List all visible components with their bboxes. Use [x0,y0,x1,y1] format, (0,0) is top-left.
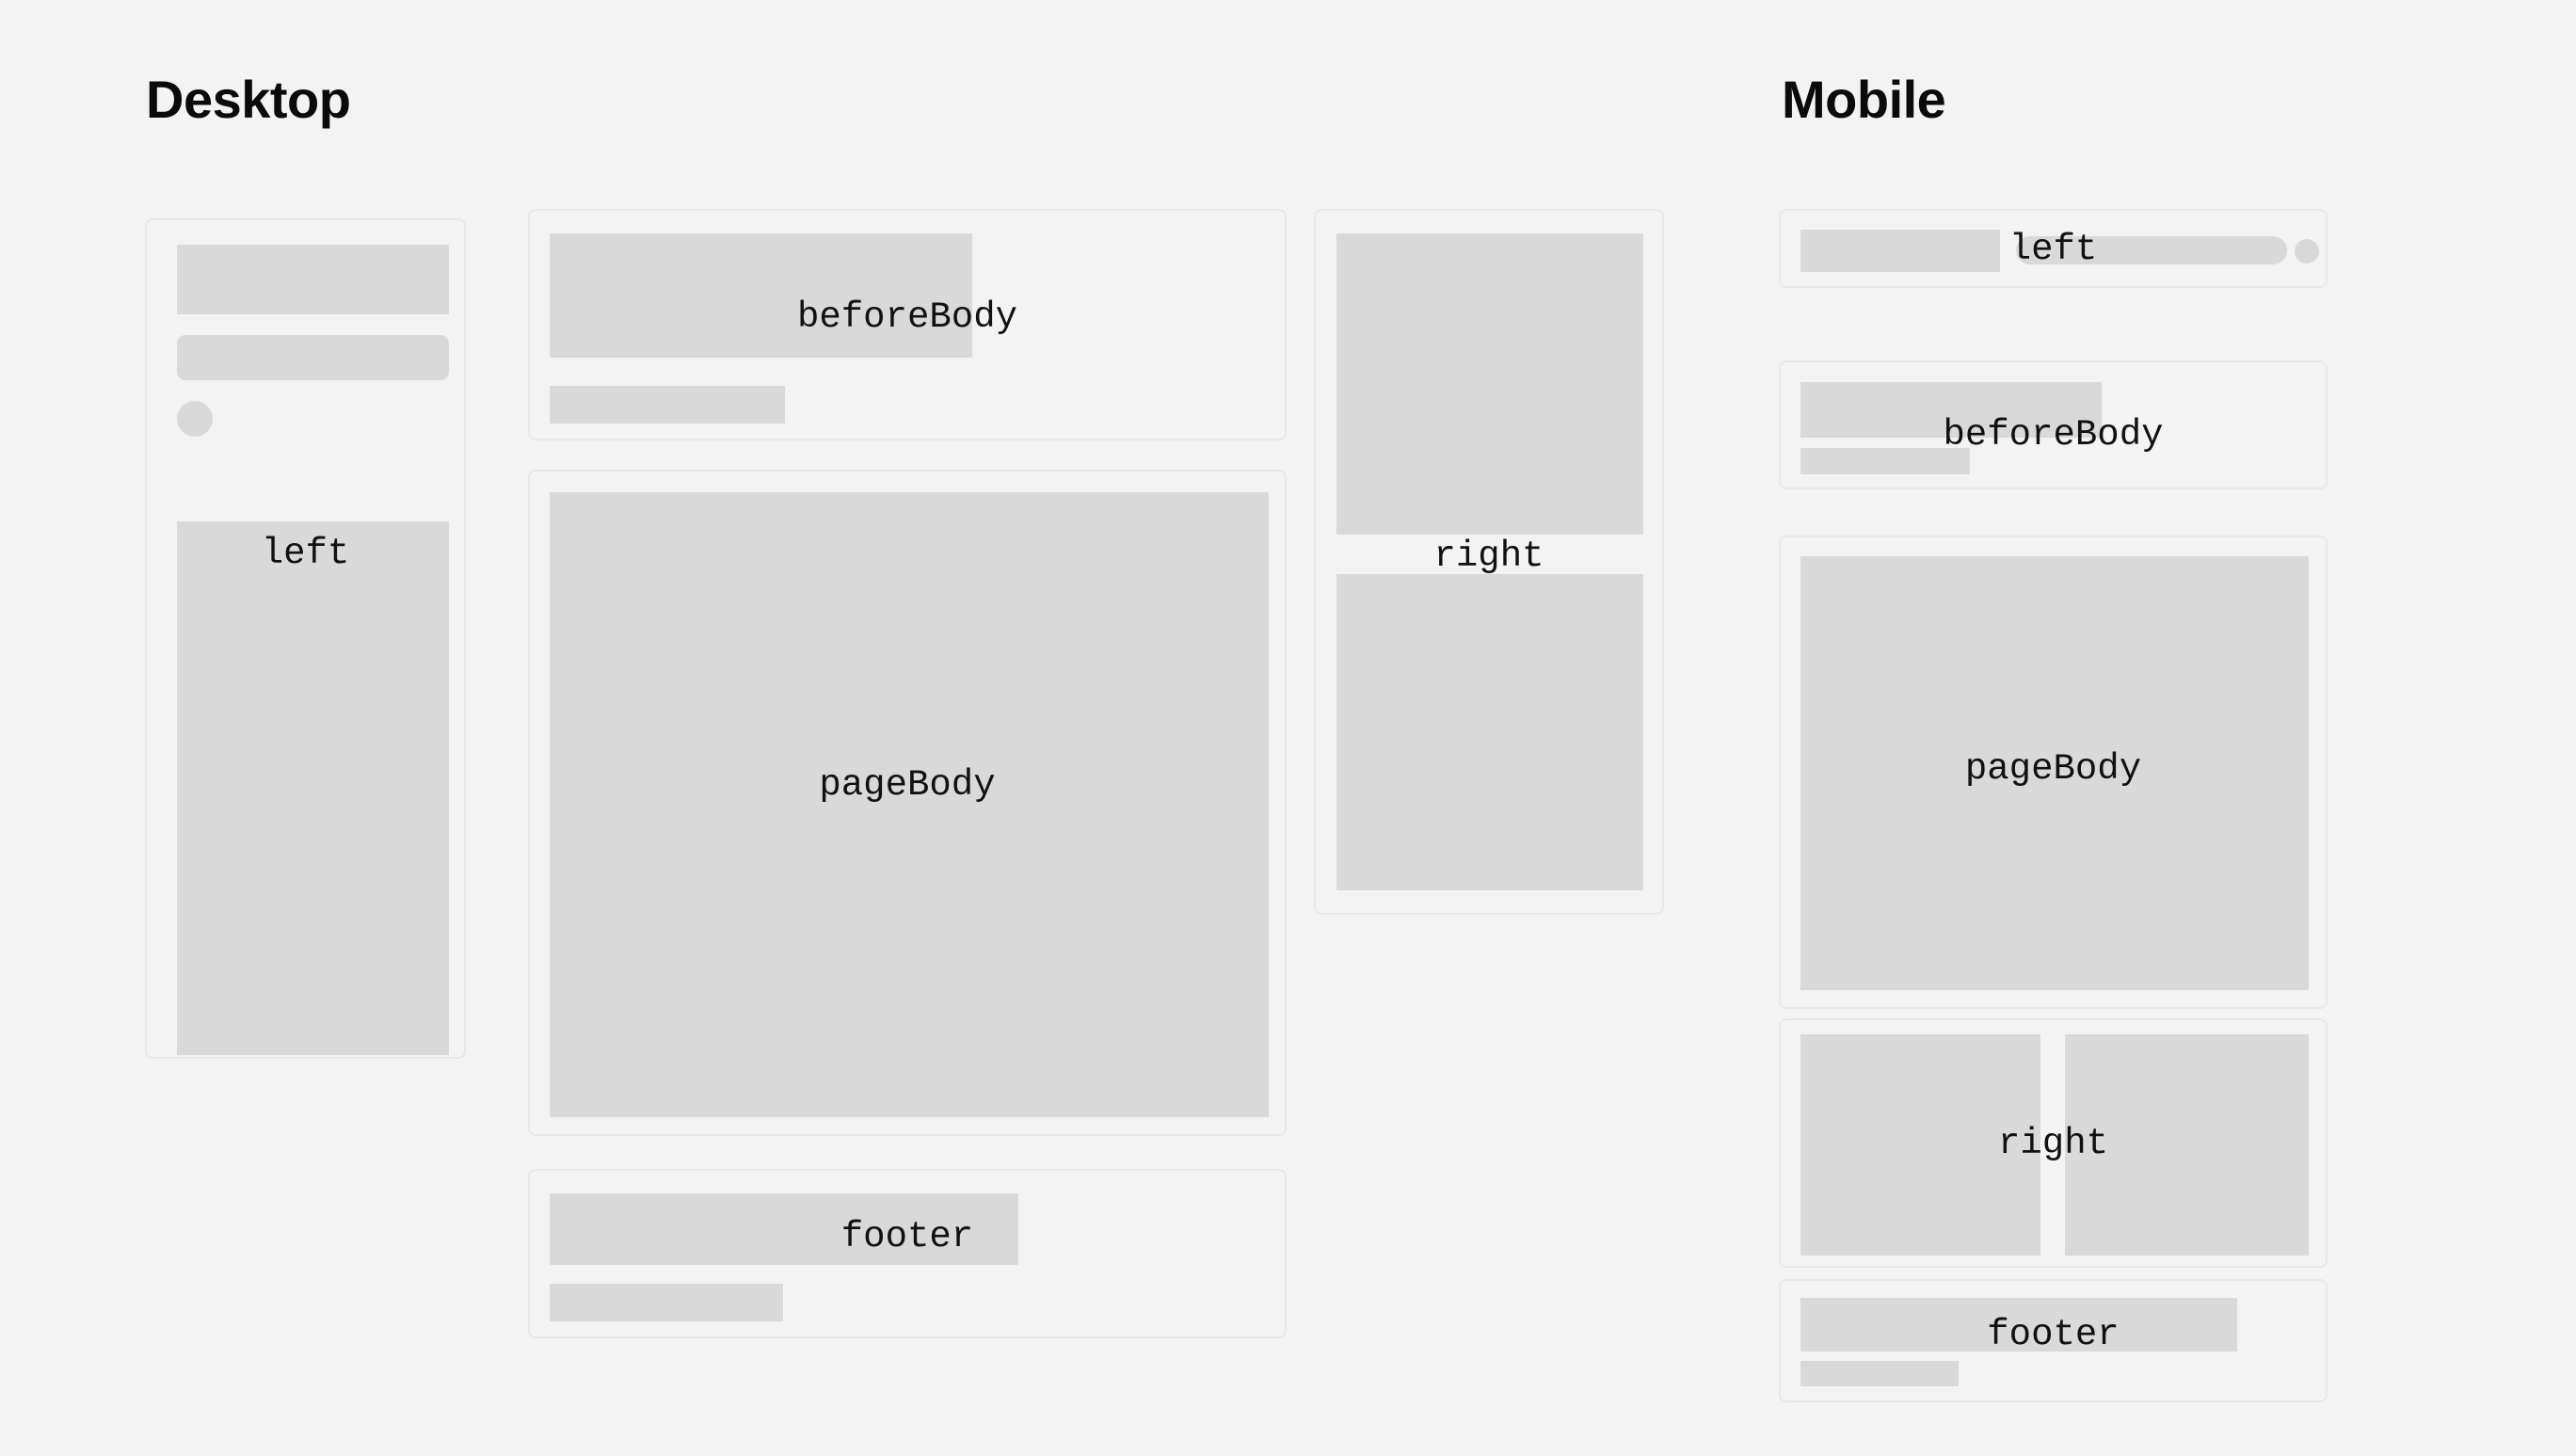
placeholder-block-tall [177,521,449,1055]
desktop-left-slot-panel[interactable] [145,218,466,1059]
mobile-right-slot-panel[interactable] [1779,1018,2328,1268]
placeholder-bar [550,1284,783,1321]
placeholder-avatar-circle [2295,239,2319,264]
mobile-left-slot-panel[interactable] [1779,209,2328,288]
desktop-footer-slot-panel[interactable] [528,1169,1287,1338]
placeholder-pill [2016,236,2287,264]
mobile-beforebody-slot-panel[interactable] [1779,360,2328,489]
mobile-footer-slot-panel[interactable] [1779,1279,2328,1402]
placeholder-block [1336,574,1643,890]
placeholder-block [2065,1034,2309,1256]
desktop-pagebody-slot-panel[interactable] [528,470,1287,1136]
placeholder-block-large [550,492,1269,1117]
placeholder-block [177,245,449,314]
placeholder-block [550,1193,1018,1265]
placeholder-bar [1800,1361,1959,1386]
placeholder-bar [550,386,785,424]
placeholder-bar [177,335,449,380]
placeholder-block [1800,1298,2237,1352]
placeholder-avatar-circle [177,401,213,437]
placeholder-block [550,233,972,358]
desktop-right-slot-panel[interactable] [1314,209,1664,915]
placeholder-bar [1800,448,1970,474]
placeholder-block [1800,382,2102,438]
mobile-section-title: Mobile [1782,73,1945,126]
placeholder-block [1336,233,1643,535]
layout-preview-stage: Desktop left beforeBody pageBody footer … [0,0,2576,1456]
placeholder-block [1800,230,2000,272]
placeholder-block [1800,1034,2040,1256]
desktop-section-title: Desktop [146,73,350,126]
desktop-beforebody-slot-panel[interactable] [528,209,1287,440]
placeholder-block-large [1800,556,2309,990]
mobile-pagebody-slot-panel[interactable] [1779,536,2328,1009]
